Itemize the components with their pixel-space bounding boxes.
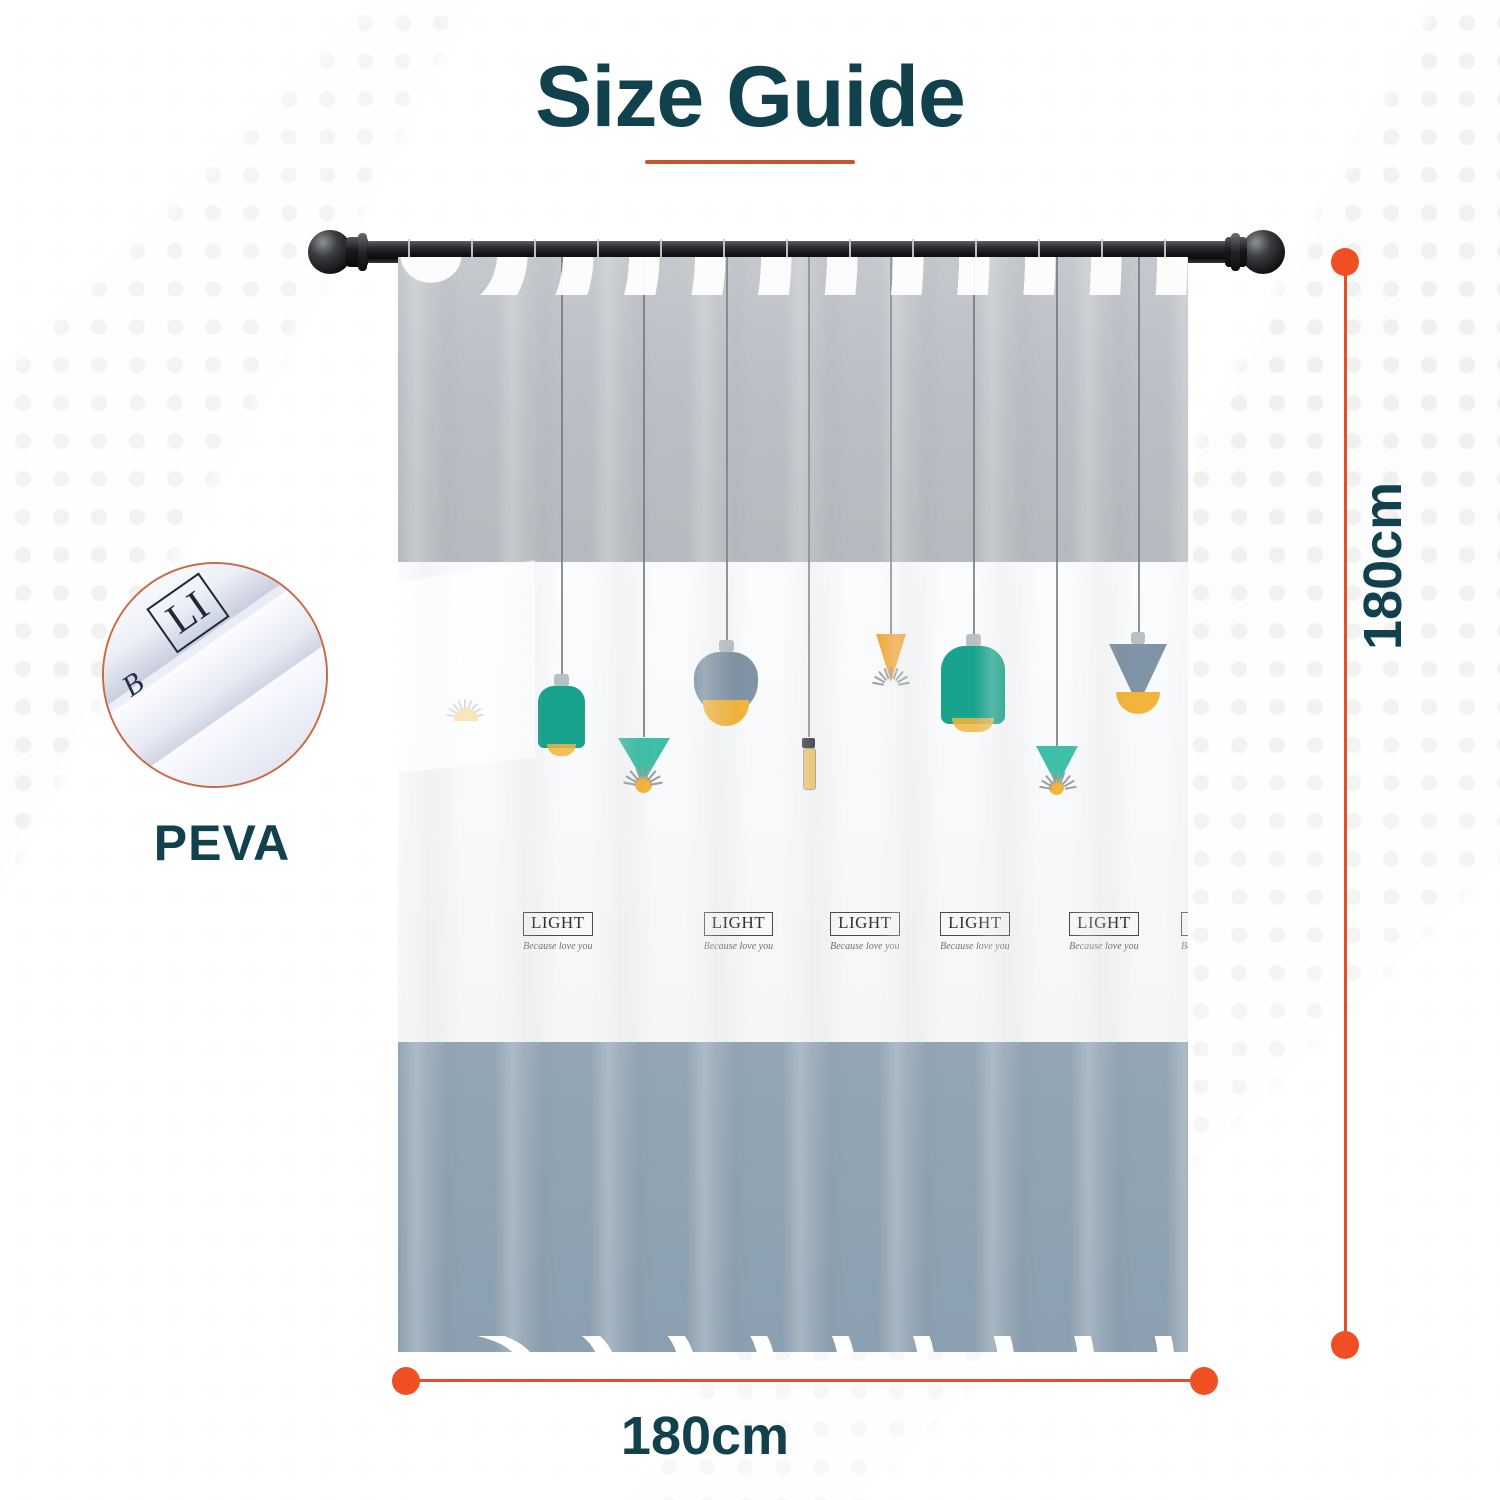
finial-ring xyxy=(1231,233,1240,271)
rod-finial-left-icon xyxy=(308,227,368,277)
height-dimension-endpoint-top xyxy=(1331,248,1359,276)
title-underline xyxy=(645,160,855,164)
peva-callout: LI B PEVA xyxy=(92,562,392,892)
finial-ball xyxy=(1241,230,1285,274)
finial-ring xyxy=(358,233,367,271)
height-dimension-label: 180cm xyxy=(1352,482,1414,650)
curtain-bottom-hem xyxy=(398,1336,1188,1352)
shower-curtain: LIGHTBecause love youLIGHTBecause love y… xyxy=(398,257,1188,1352)
width-dimension-endpoint-left xyxy=(392,1367,420,1395)
curtain-top-scallop xyxy=(398,257,1188,295)
height-dimension-line xyxy=(1344,262,1347,1340)
title-block: Size Guide xyxy=(0,52,1500,164)
page-title: Size Guide xyxy=(0,52,1500,142)
curtain-product-image: LIGHTBecause love youLIGHTBecause love y… xyxy=(300,225,1290,1355)
peva-material-label: PEVA xyxy=(92,814,352,872)
width-dimension-line xyxy=(404,1379,1204,1382)
width-dimension-label: 180cm xyxy=(0,1405,1500,1467)
curtain-pleat-highlights xyxy=(398,257,1188,1352)
width-dimension-text: 180cm xyxy=(621,1405,789,1467)
rod-finial-right-icon xyxy=(1225,227,1285,277)
width-dimension-endpoint-right xyxy=(1190,1367,1218,1395)
height-dimension-endpoint-bottom xyxy=(1331,1331,1359,1359)
peva-magnifier-circle: LI B xyxy=(102,562,328,788)
